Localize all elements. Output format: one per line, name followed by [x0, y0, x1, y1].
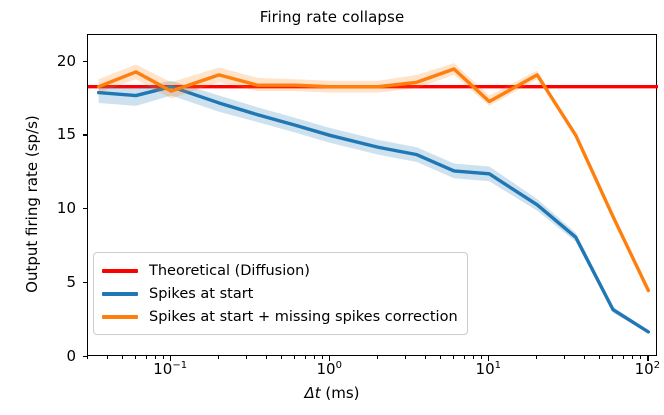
- x-minor-tick-mark: [584, 356, 585, 359]
- x-minor-tick-mark: [146, 356, 147, 359]
- x-minor-tick-mark: [163, 356, 164, 359]
- x-minor-tick-mark: [599, 356, 600, 359]
- y-tick-label: 0: [0, 347, 76, 365]
- y-tick-label: 5: [0, 273, 76, 291]
- x-tick-mark: [170, 356, 171, 361]
- x-minor-tick-mark: [473, 356, 474, 359]
- legend-color-swatch: [102, 269, 138, 273]
- legend-color-swatch: [102, 315, 138, 319]
- x-minor-tick-mark: [405, 356, 406, 359]
- x-minor-tick-mark: [612, 356, 613, 359]
- x-tick-label: 101: [476, 360, 501, 378]
- x-minor-tick-mark: [640, 356, 641, 359]
- legend-color-swatch: [102, 292, 138, 296]
- x-minor-tick-mark: [481, 356, 482, 359]
- y-tick-label: 15: [0, 125, 76, 143]
- x-minor-tick-mark: [294, 356, 295, 359]
- x-minor-tick-mark: [322, 356, 323, 359]
- legend-label: Spikes at start + missing spikes correct…: [149, 309, 458, 325]
- x-tick-mark: [329, 356, 330, 361]
- x-minor-tick-mark: [425, 356, 426, 359]
- legend-item[interactable]: Theoretical (Diffusion): [102, 259, 458, 282]
- x-minor-tick-mark: [453, 356, 454, 359]
- legend: Theoretical (Diffusion)Spikes at startSp…: [93, 252, 468, 335]
- figure-canvas: Firing rate collapse Output firing rate …: [0, 0, 664, 415]
- y-tick-label: 10: [0, 199, 76, 217]
- x-minor-tick-mark: [87, 356, 88, 359]
- x-minor-tick-mark: [305, 356, 306, 359]
- legend-item[interactable]: Spikes at start + missing spikes correct…: [102, 305, 458, 328]
- x-minor-tick-mark: [218, 356, 219, 359]
- x-minor-tick-mark: [377, 356, 378, 359]
- x-minor-tick-mark: [464, 356, 465, 359]
- x-minor-tick-mark: [623, 356, 624, 359]
- x-minor-tick-mark: [632, 356, 633, 359]
- y-tick-label: 20: [0, 52, 76, 70]
- legend-label: Spikes at start: [149, 286, 253, 302]
- x-minor-tick-mark: [266, 356, 267, 359]
- x-minor-tick-mark: [246, 356, 247, 359]
- x-tick-label: 102: [635, 360, 660, 378]
- x-minor-tick-mark: [564, 356, 565, 359]
- x-minor-tick-mark: [155, 356, 156, 359]
- x-tick-mark: [647, 356, 648, 361]
- x-minor-tick-mark: [107, 356, 108, 359]
- legend-label: Theoretical (Diffusion): [149, 263, 310, 279]
- x-minor-tick-mark: [281, 356, 282, 359]
- x-tick-label: 10−1: [153, 360, 187, 378]
- x-minor-tick-mark: [536, 356, 537, 359]
- x-minor-tick-mark: [314, 356, 315, 359]
- x-minor-tick-mark: [440, 356, 441, 359]
- legend-item[interactable]: Spikes at start: [102, 282, 458, 305]
- x-tick-mark: [488, 356, 489, 361]
- x-tick-label: 100: [316, 360, 341, 378]
- x-minor-tick-mark: [122, 356, 123, 359]
- x-minor-tick-mark: [135, 356, 136, 359]
- x-axis-label: Δt (ms): [0, 384, 664, 402]
